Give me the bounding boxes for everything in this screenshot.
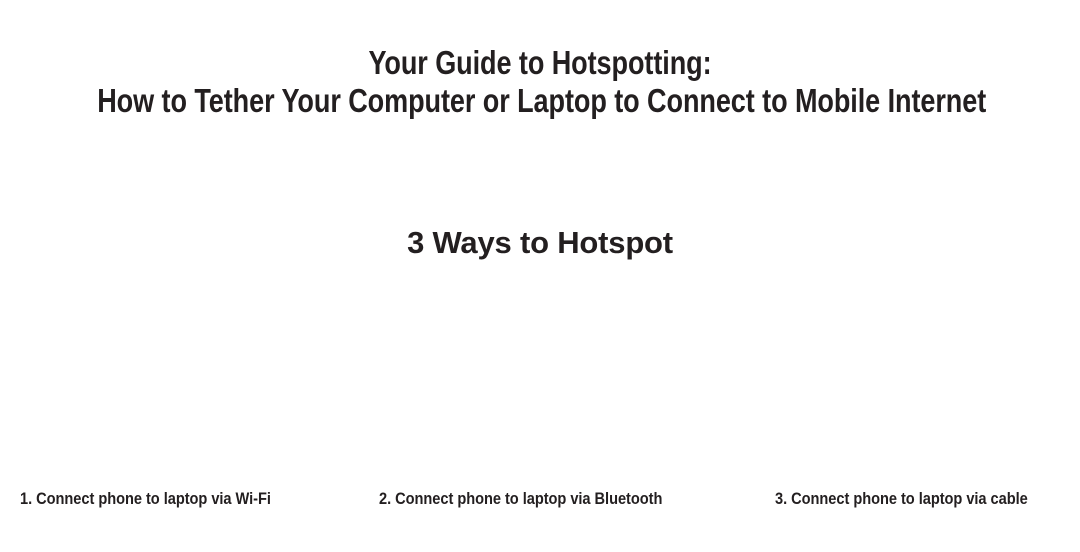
step-caption-wifi: 1. Connect phone to laptop via Wi-Fi xyxy=(20,487,271,511)
illustration-slot-cable xyxy=(720,272,1080,476)
steps-row: 1. Connect phone to laptop via Wi-Fi 2. … xyxy=(0,487,1080,513)
illustration-slot-wifi xyxy=(0,272,360,476)
page-title-line-2: How to Tether Your Computer or Laptop to… xyxy=(97,82,983,120)
step-caption-bluetooth: 2. Connect phone to laptop via Bluetooth xyxy=(379,487,662,511)
step-caption-cable: 3. Connect phone to laptop via cable xyxy=(775,487,1028,511)
page-title: Your Guide to Hotspotting: How to Tether… xyxy=(0,44,1080,120)
section-heading: 3 Ways to Hotspot xyxy=(0,224,1080,262)
page-title-line-1: Your Guide to Hotspotting: xyxy=(97,44,983,82)
infographic-poster: Your Guide to Hotspotting: How to Tether… xyxy=(0,0,1080,552)
illustration-band xyxy=(0,272,1080,476)
illustration-slot-bluetooth xyxy=(360,272,720,476)
